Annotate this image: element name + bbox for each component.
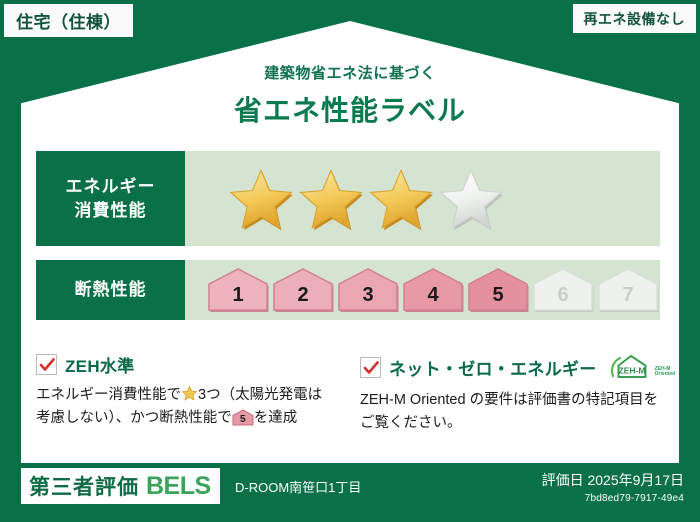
note-zeh-header: ZEH水準 bbox=[36, 352, 336, 377]
zeh-m-sub-line2: Oriented bbox=[655, 371, 676, 377]
inline-star-icon bbox=[181, 385, 198, 402]
insulation-grade-number: 1 bbox=[207, 284, 269, 307]
page-title: 省エネ性能ラベル bbox=[0, 89, 700, 129]
note-zeh-text-1: エネルギー消費性能で bbox=[36, 387, 181, 403]
insulation-grade-scale: 1234567 bbox=[207, 267, 659, 313]
row-insulation-body: 1234567 bbox=[185, 260, 660, 320]
insulation-grade-4: 4 bbox=[402, 267, 464, 313]
row-insulation-performance: 断熱性能 1234567 bbox=[36, 260, 660, 320]
evaluation-date: 評価日 2025年9月17日 bbox=[542, 470, 684, 490]
bels-badge: 第三者評価 BELS bbox=[21, 468, 220, 504]
star-filled-icon bbox=[297, 165, 365, 233]
row-energy-label: エネルギー 消費性能 bbox=[36, 151, 185, 246]
row-insulation-label-text: 断熱性能 bbox=[75, 278, 147, 301]
insulation-grade-7: 7 bbox=[597, 267, 659, 313]
note-zeh-text-3: を達成 bbox=[254, 410, 298, 426]
note-nze-header: ネット・ゼロ・エネルギー ZEH-M ZEH-M Oriented bbox=[360, 352, 660, 382]
star-filled-icon bbox=[367, 165, 435, 233]
check-icon bbox=[360, 357, 381, 378]
star-filled-icon bbox=[227, 165, 295, 233]
star-empty-icon bbox=[437, 165, 505, 233]
header-subtitle: 建築物省エネ法に基づく bbox=[0, 62, 700, 83]
inline-house-number: 5 bbox=[232, 412, 254, 428]
insulation-grade-1: 1 bbox=[207, 267, 269, 313]
note-zeh-body: エネルギー消費性能で 3つ（太陽光発電は考慮しない）、かつ断熱性能で 5 を達成 bbox=[36, 384, 336, 431]
note-net-zero-energy: ネット・ゼロ・エネルギー ZEH-M ZEH-M Oriented ZEH-M … bbox=[360, 352, 660, 436]
row-energy-label-line2: 消費性能 bbox=[75, 199, 147, 222]
insulation-grade-2: 2 bbox=[272, 267, 334, 313]
zeh-m-logo-subtext: ZEH-M Oriented bbox=[655, 367, 676, 379]
bels-jp-label: 第三者評価 bbox=[29, 471, 139, 501]
certificate-id: 7bd8ed79-7917-49e4 bbox=[542, 493, 684, 504]
star-rating bbox=[227, 165, 505, 233]
row-energy-label-line1: エネルギー bbox=[66, 175, 156, 198]
tag-building-type: 住宅（住棟） bbox=[4, 4, 133, 37]
footer-eval-info: 評価日 2025年9月17日 7bd8ed79-7917-49e4 bbox=[542, 470, 684, 504]
row-energy-performance: エネルギー 消費性能 bbox=[36, 151, 660, 246]
check-icon bbox=[36, 354, 57, 375]
row-insulation-label: 断熱性能 bbox=[36, 260, 185, 320]
insulation-grade-number: 2 bbox=[272, 284, 334, 307]
note-nze-body: ZEH-M Oriented の要件は評価書の特記項目をご覧ください。 bbox=[360, 389, 660, 436]
header: 建築物省エネ法に基づく 省エネ性能ラベル bbox=[0, 62, 700, 129]
bels-en-label: BELS bbox=[146, 472, 211, 501]
insulation-grade-3: 3 bbox=[337, 267, 399, 313]
evaluation-date-value: 2025年9月17日 bbox=[587, 472, 684, 488]
building-name: D-ROOM南笹口1丁目 bbox=[235, 477, 361, 496]
svg-text:ZEH-M: ZEH-M bbox=[618, 366, 645, 376]
row-energy-body bbox=[185, 151, 660, 246]
note-nze-title: ネット・ゼロ・エネルギー bbox=[389, 355, 597, 380]
insulation-grade-5: 5 bbox=[467, 267, 529, 313]
note-zeh-title: ZEH水準 bbox=[65, 352, 135, 377]
insulation-grade-number: 5 bbox=[467, 284, 529, 307]
energy-performance-label: 住宅（住棟） 再エネ設備なし 建築物省エネ法に基づく 省エネ性能ラベル エネルギ… bbox=[0, 0, 700, 522]
insulation-grade-number: 6 bbox=[532, 284, 594, 307]
insulation-grade-6: 6 bbox=[532, 267, 594, 313]
inline-house-badge: 5 bbox=[232, 409, 254, 426]
zeh-m-logo: ZEH-M ZEH-M Oriented bbox=[609, 352, 676, 382]
tag-renewable-equipment: 再エネ設備なし bbox=[573, 4, 697, 33]
insulation-grade-number: 3 bbox=[337, 284, 399, 307]
evaluation-date-label: 評価日 bbox=[542, 472, 584, 488]
insulation-grade-number: 4 bbox=[402, 284, 464, 307]
insulation-grade-number: 7 bbox=[597, 284, 659, 307]
note-zeh-standard: ZEH水準 エネルギー消費性能で 3つ（太陽光発電は考慮しない）、かつ断熱性能で… bbox=[36, 352, 336, 431]
